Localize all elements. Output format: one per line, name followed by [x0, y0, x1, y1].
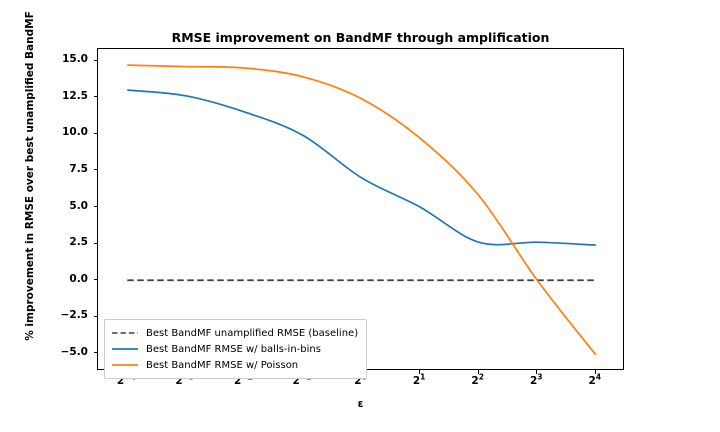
legend-item-baseline[interactable]: Best BandMF unamplified RMSE (baseline) [112, 325, 358, 341]
y-tick-label: 15.0 [42, 54, 88, 65]
x-tick-mark [478, 370, 479, 374]
x-tick-label: 22 [448, 376, 508, 387]
legend-swatch-balls-in-bins [112, 343, 138, 355]
legend-label-balls-in-bins: Best BandMF RMSE w/ balls-in-bins [146, 344, 321, 355]
legend-item-balls-in-bins[interactable]: Best BandMF RMSE w/ balls-in-bins [112, 341, 358, 357]
legend-item-poisson[interactable]: Best BandMF RMSE w/ Poisson [112, 357, 358, 373]
legend-label-baseline: Best BandMF unamplified RMSE (baseline) [146, 328, 358, 339]
x-tick-mark [595, 370, 596, 374]
series-line-1 [127, 90, 596, 245]
x-axis-label: ε [97, 398, 624, 410]
y-tick-label: −5.0 [42, 347, 88, 358]
y-tick-label: 7.5 [42, 164, 88, 175]
figure-canvas: RMSE improvement on BandMF through ampli… [0, 0, 720, 432]
x-tick-mark [419, 370, 420, 374]
y-tick-label: 0.0 [42, 274, 88, 285]
y-tick-label: 5.0 [42, 201, 88, 212]
series-line-2 [127, 65, 596, 355]
y-tick-label: 2.5 [42, 237, 88, 248]
y-tick-label: 12.5 [42, 91, 88, 102]
x-tick-label: 24 [565, 376, 625, 387]
legend-swatch-baseline [112, 327, 138, 339]
legend: Best BandMF unamplified RMSE (baseline) … [104, 319, 367, 379]
y-axis-label: % improvement in RMSE over best unamplif… [24, 0, 36, 356]
legend-swatch-poisson [112, 359, 138, 371]
legend-label-poisson: Best BandMF RMSE w/ Poisson [146, 360, 298, 371]
x-tick-mark [536, 370, 537, 374]
y-tick-label: −2.5 [42, 310, 88, 321]
x-tick-label: 21 [389, 376, 449, 387]
chart-title: RMSE improvement on BandMF through ampli… [97, 30, 624, 45]
x-tick-label: 23 [506, 376, 566, 387]
y-tick-label: 10.0 [42, 127, 88, 138]
